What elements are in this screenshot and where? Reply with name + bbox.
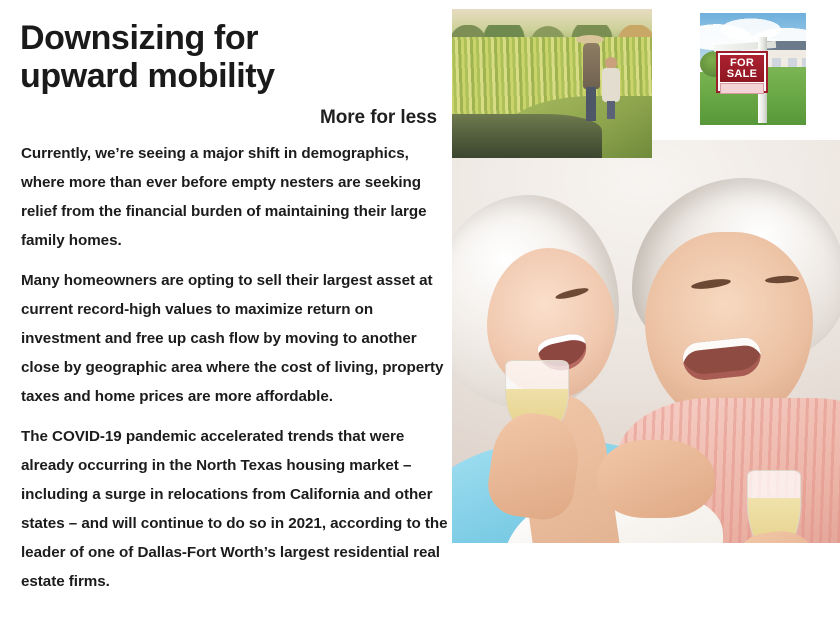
page-title: Downsizing for upward mobility — [20, 19, 440, 96]
forsale-sign-text: FOR SALE — [720, 55, 764, 82]
subtitle: More for less — [0, 107, 437, 129]
child-torso — [602, 68, 620, 102]
reeds-pond-photo — [452, 9, 652, 158]
page-title-line-1: Downsizing for — [20, 19, 440, 57]
body-paragraph-2: Many homeowners are opting to sell their… — [21, 266, 451, 411]
child-legs — [607, 101, 615, 119]
adult-legs — [586, 87, 596, 121]
reeds-child-figure — [602, 57, 620, 119]
body-copy: Currently, we’re seeing a major shift in… — [21, 139, 451, 596]
forsale-sign-board: FOR SALE — [716, 51, 768, 93]
reeds-adult-figure — [580, 35, 602, 121]
adult-torso — [583, 43, 600, 89]
page-title-line-2: upward mobility — [20, 57, 440, 95]
forsale-sign-rider — [720, 83, 764, 94]
man-face — [645, 232, 813, 422]
forsale-text-for: FOR — [730, 58, 754, 69]
forsale-text-sale: SALE — [727, 69, 758, 80]
senior-couple-photo — [447, 140, 840, 543]
body-paragraph-1: Currently, we’re seeing a major shift in… — [21, 139, 451, 255]
body-paragraph-3: The COVID-19 pandemic accelerated trends… — [21, 422, 451, 596]
for-sale-sign-photo: FOR SALE — [700, 13, 806, 125]
text-panel: Downsizing for upward mobility More for … — [0, 0, 452, 570]
slide-canvas: FOR SALE Downsizing for upward mobility … — [0, 0, 840, 630]
clasped-hands — [597, 440, 715, 518]
